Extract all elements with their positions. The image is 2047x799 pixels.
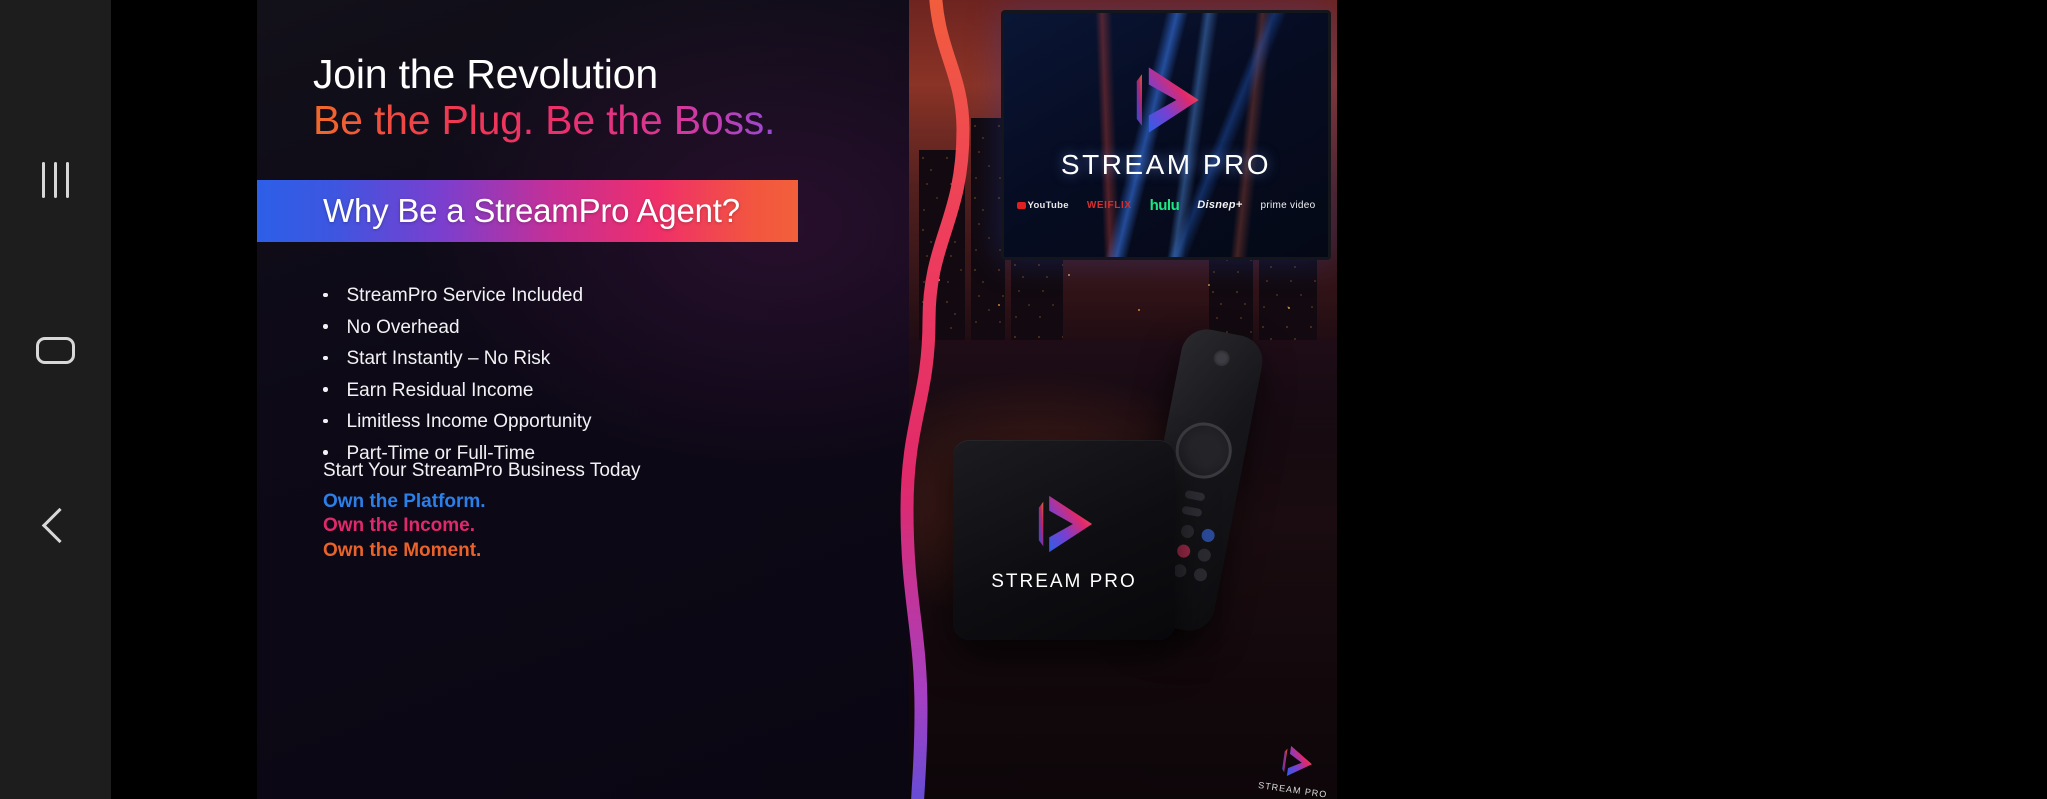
section-banner: Why Be a StreamPro Agent?	[257, 180, 798, 242]
list-item: Earn Residual Income	[323, 381, 592, 400]
bullet-dot-icon	[323, 419, 328, 424]
remote-button	[1181, 506, 1202, 518]
headline-block: Join the Revolution Be the Plug. Be the …	[313, 52, 873, 144]
cta-line: Own the Platform.	[323, 490, 641, 514]
hulu-logo: hulu	[1150, 197, 1180, 214]
cta-lead-text: Start Your StreamPro Business Today	[323, 460, 641, 482]
bullet-dot-icon	[323, 387, 328, 392]
streampro-play-logo-icon	[1275, 739, 1320, 784]
cta-lines: Own the Platform.Own the Income.Own the …	[323, 490, 641, 563]
netflix-logo: WEIFLIX	[1087, 200, 1132, 211]
benefits-list: StreamPro Service IncludedNo OverheadSta…	[323, 286, 592, 475]
list-item-label: StreamPro Service Included	[347, 286, 584, 305]
bullet-dot-icon	[323, 324, 328, 329]
list-item: Start Instantly – No Risk	[323, 349, 592, 368]
list-item: StreamPro Service Included	[323, 286, 592, 305]
list-item: No Overhead	[323, 318, 592, 337]
headline-line-1: Join the Revolution	[313, 52, 873, 98]
device-wordmark: STREAM PRO	[991, 571, 1137, 593]
youtube-logo: YouTube	[1017, 200, 1069, 211]
streaming-device-box: STREAM PRO	[953, 440, 1175, 640]
home-button[interactable]	[0, 305, 111, 395]
headline-line-2: Be the Plug. Be the Boss.	[313, 98, 873, 144]
city-lights	[909, 250, 1337, 340]
slide-photo: STREAM PRO YouTube WEIFLIX hulu Disnep+ …	[909, 0, 1337, 799]
bullet-dot-icon	[323, 356, 328, 361]
device-screen: STREAM PRO YouTube WEIFLIX hulu Disnep+ …	[0, 0, 2047, 799]
cta-line: Own the Income.	[323, 514, 641, 538]
chevron-left-icon	[42, 507, 77, 542]
left-letterbox	[111, 0, 257, 799]
list-item-label: Earn Residual Income	[347, 381, 534, 400]
list-item: Limitless Income Opportunity	[323, 412, 592, 431]
cta-line: Own the Moment.	[323, 539, 641, 563]
remote-mic-button	[1212, 349, 1231, 368]
tv-wordmark: STREAM PRO	[1061, 149, 1271, 181]
recent-apps-button[interactable]	[0, 135, 111, 225]
section-banner-text: Why Be a StreamPro Agent?	[323, 192, 740, 230]
prime-video-logo: prime video	[1260, 200, 1315, 211]
slide-image[interactable]: STREAM PRO YouTube WEIFLIX hulu Disnep+ …	[257, 0, 1337, 799]
streaming-logo-row: YouTube WEIFLIX hulu Disnep+ prime video	[1004, 197, 1328, 214]
remote-dpad	[1171, 418, 1237, 484]
android-navigation-bar	[0, 0, 111, 799]
disney-plus-logo: Disnep+	[1197, 199, 1242, 211]
cta-block: Start Your StreamPro Business Today Own …	[323, 460, 641, 563]
list-item-label: Limitless Income Opportunity	[347, 412, 592, 431]
recent-apps-icon	[42, 162, 69, 198]
remote-button	[1184, 490, 1205, 502]
list-item-label: Start Instantly – No Risk	[347, 349, 551, 368]
youtube-logo-label: YouTube	[1028, 200, 1069, 211]
secondary-device-logo: STREAM PRO	[1258, 737, 1334, 799]
television: STREAM PRO YouTube WEIFLIX hulu Disnep+ …	[1001, 10, 1331, 260]
list-item-label: No Overhead	[347, 318, 460, 337]
streampro-play-logo-icon	[1027, 487, 1101, 561]
right-letterbox	[1337, 0, 2047, 799]
bullet-dot-icon	[323, 450, 328, 455]
home-icon	[36, 337, 75, 364]
back-button[interactable]	[0, 480, 111, 570]
streampro-play-logo-icon	[1123, 57, 1209, 143]
bullet-dot-icon	[323, 293, 328, 298]
